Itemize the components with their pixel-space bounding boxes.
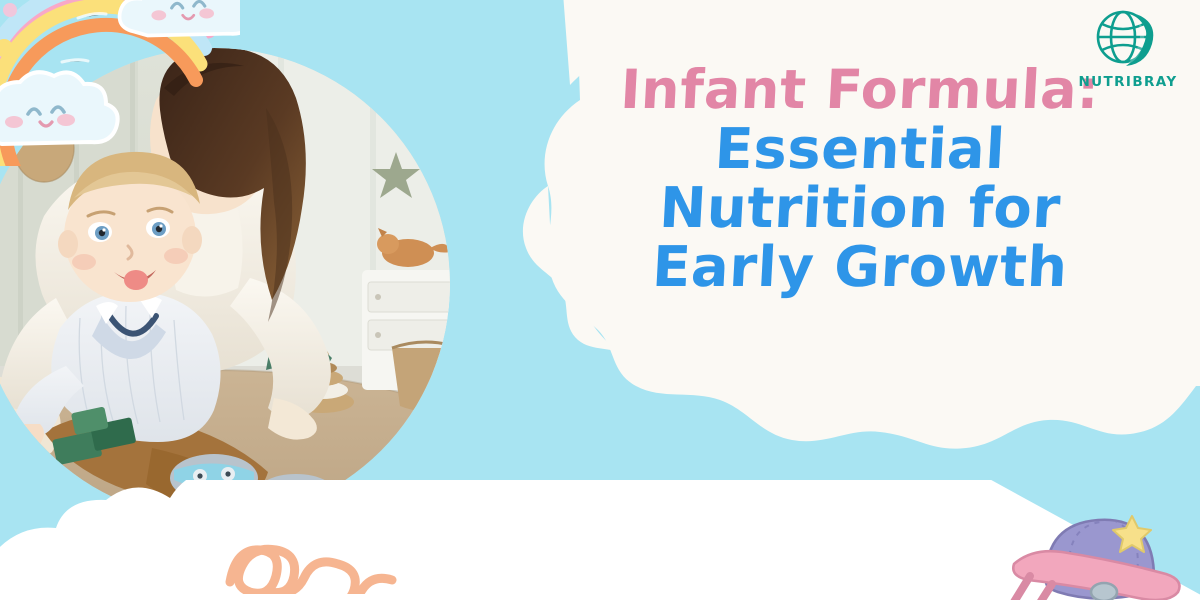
banner-canvas: Infant Formula: Essential Nutrition for … — [0, 0, 1200, 600]
headline-line-3: Nutrition for — [599, 180, 1122, 237]
kawaii-cloud-right — [120, 0, 240, 36]
headline-line-4: Early Growth — [599, 239, 1122, 296]
brand-name: NUTRIBRAY — [1074, 74, 1182, 90]
headline-block: Infant Formula: Essential Nutrition for … — [600, 62, 1120, 298]
mother-and-baby-illustration — [0, 48, 450, 520]
ufo-rocket — [1008, 486, 1194, 600]
brand-logo[interactable]: NUTRIBRAY — [1074, 6, 1182, 90]
globe-leaf-icon — [1092, 6, 1164, 72]
spiral-squiggle — [222, 524, 422, 594]
hero-photo — [0, 48, 450, 520]
confetti-dots — [0, 0, 32, 63]
headline-line-2: Essential — [599, 121, 1122, 178]
headline-line-1: Infant Formula: — [599, 62, 1122, 117]
